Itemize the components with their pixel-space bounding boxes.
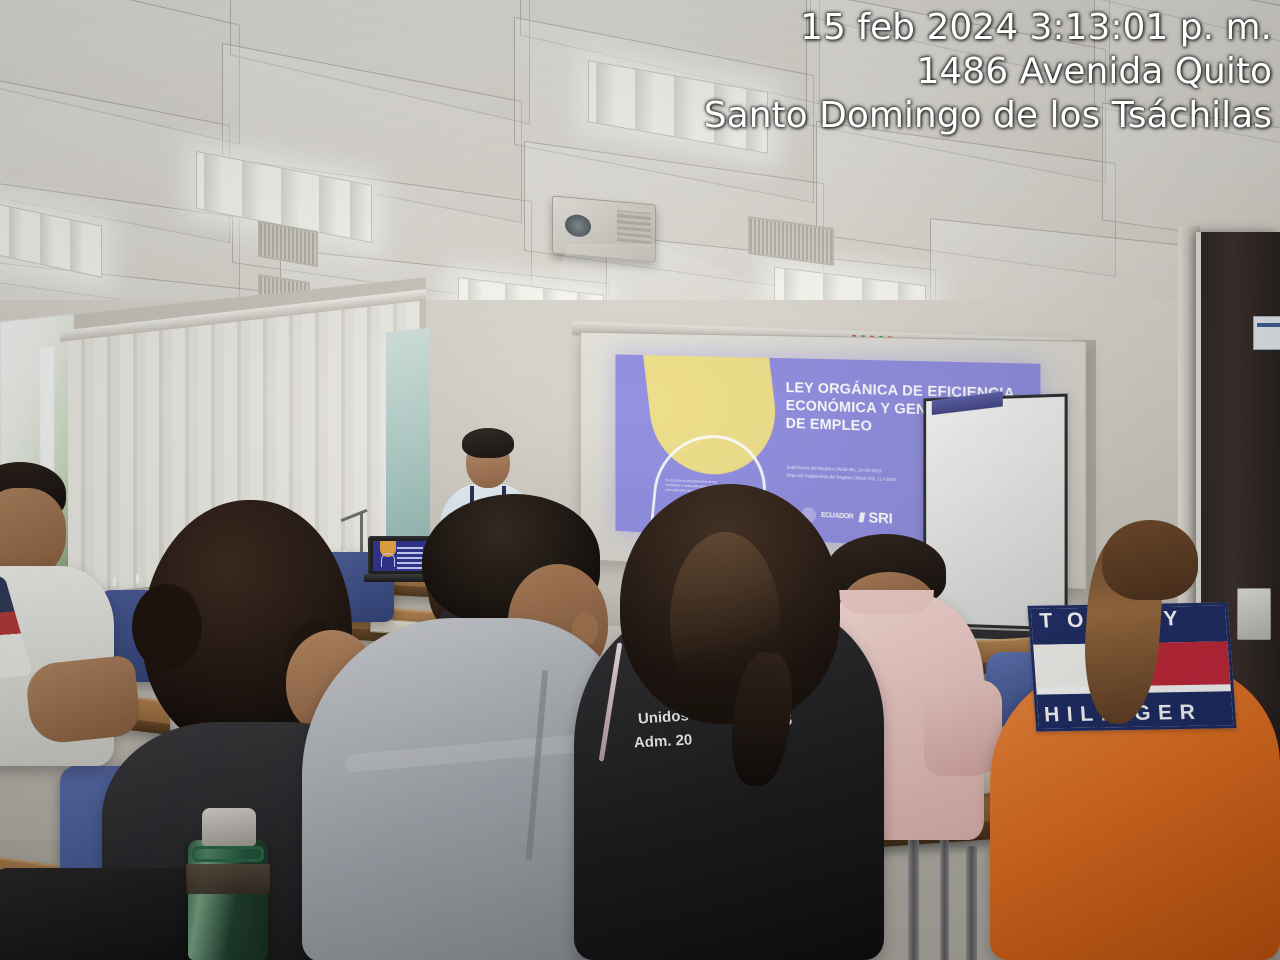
stamp-address: 1486 Avenida Quito (704, 50, 1272, 94)
photo-scene: Se incorpora la reprogramación de las no… (0, 0, 1280, 960)
bottle-band (186, 864, 270, 894)
curl-1 (132, 584, 202, 670)
projector-icon (552, 195, 656, 262)
person-black-print-jacket: Unidos Adm. 20 más 2023 (574, 492, 894, 960)
head (1102, 520, 1198, 600)
jacket-print-word2: Adm. 20 (634, 730, 693, 753)
person-tommy-shirt: TOMMY HILFIGER (990, 560, 1280, 960)
bottle-cap[interactable] (202, 808, 256, 846)
stamp-region: Santo Domingo de los Tsáchilas (704, 94, 1272, 138)
timestamp-overlay: 15 feb 2024 3:13:01 p. m. 1486 Avenida Q… (704, 6, 1272, 138)
presenter-hair (462, 428, 514, 458)
stamp-datetime: 15 feb 2024 3:13:01 p. m. (704, 6, 1272, 50)
bottle-clip (192, 846, 264, 862)
water-bottle[interactable] (182, 806, 274, 960)
projector-lens (565, 214, 591, 238)
door-sign (1253, 316, 1280, 350)
bag (0, 868, 200, 960)
